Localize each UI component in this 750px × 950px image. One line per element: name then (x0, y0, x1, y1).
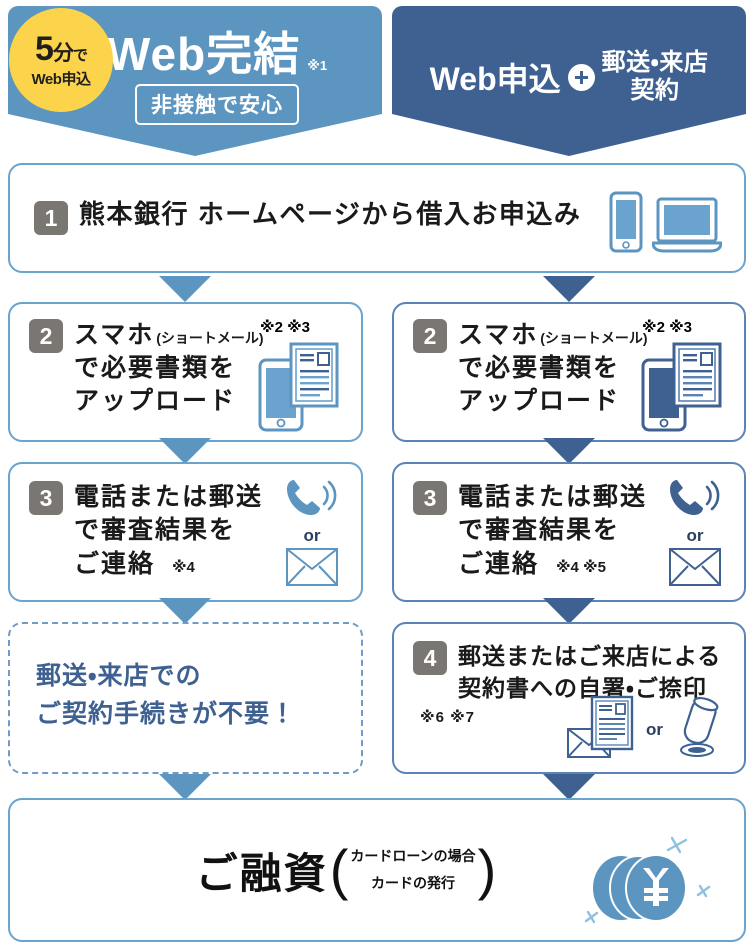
banner-right-line1: 郵送・来店 (602, 49, 709, 77)
smartphone-icon (609, 191, 643, 258)
badge-particle: で (73, 48, 87, 63)
step-2-right-line1-main: スマホ (458, 319, 538, 352)
laptop-icon (652, 197, 722, 258)
step-3-right-contact-icons: or (666, 476, 724, 592)
arrow-step1-to-step2-right (543, 276, 595, 302)
step-2-left-box: ※2 ※3 2 スマホ (ショートメール) で必要書類を アップロード (8, 302, 363, 442)
step-1-device-icons (609, 191, 722, 258)
yen-coins-icon (576, 826, 716, 943)
arrow-step1-to-step2-left (159, 276, 211, 302)
step-4-sign-icons: or (566, 695, 728, 764)
arrow-step3-to-note-left (159, 598, 211, 624)
step-2-left-line2: で必要書類を (74, 352, 264, 385)
arrow-step2-to-step3-left (159, 438, 211, 464)
step-3-left-line2: で審査結果を (74, 514, 263, 547)
no-contract-line1: 郵送・来店での (36, 658, 361, 696)
step-1-box: 1 熊本銀行 ホームページから借入お申込み (8, 163, 746, 273)
envelope-icon (668, 547, 722, 592)
step-3-left-box: 3 電話または郵送 で審査結果を ご連絡 ※4 or (8, 462, 363, 602)
final-loan-box: ご融資 ( カードローンの場合 カードの発行 ) (8, 798, 746, 942)
step-1-text: 熊本銀行 ホームページから借入お申込み (79, 201, 581, 227)
banner-left-footnote-mark: ※1 (307, 58, 327, 74)
step-3-right-line3: ご連絡 (458, 550, 539, 578)
step-3-right-footnote-marks: ※4 ※5 (556, 559, 606, 576)
banner-right-title: Web申込 (430, 54, 561, 100)
five-minute-badge: 5 分 で Web申込 (9, 8, 113, 112)
step-2-left-line3: アップロード (74, 385, 264, 418)
step-2-right-number: 2 (413, 319, 447, 353)
no-contract-line2: ご契約手続きが不要！ (36, 696, 361, 734)
banner-right-line2: 契約 (630, 77, 679, 105)
envelope-icon (285, 547, 339, 592)
flowchart-root: Web完結 ※1 非接触で安心 5 分 で Web申込 Web申込 (0, 0, 750, 950)
step-3-right-or-label: or (687, 526, 704, 546)
badge-unit: 分 (53, 43, 73, 64)
step-1-number: 1 (34, 201, 68, 235)
final-sub-line1: カードローンの場合 (350, 843, 475, 870)
arrow-step2-to-step3-right (543, 438, 595, 464)
step-4-or-label: or (646, 720, 663, 740)
final-sub-line2: カードの発行 (371, 870, 455, 897)
step-4-line1: 郵送またはご来店による (458, 641, 721, 673)
step-3-left-or-label: or (304, 526, 321, 546)
seal-stamp-icon (670, 695, 728, 764)
arrow-step4-to-final-right (543, 774, 595, 800)
final-paren-close: ) (478, 842, 497, 898)
step-3-left-contact-icons: or (283, 476, 341, 592)
step-4-right-box: 4 郵送またはご来店による 契約書への自署・ご捺印 ※6 ※7 (392, 622, 746, 774)
step-3-left-line3: ご連絡 (74, 550, 155, 578)
step-2-left-line1-main: スマホ (74, 319, 154, 352)
step-3-right-box: 3 電話または郵送 で審査結果を ご連絡 ※4 ※5 or (392, 462, 746, 602)
arrow-note-to-final-left (159, 774, 211, 800)
step-2-right-line3: アップロード (458, 385, 648, 418)
banner-left-pill-label: 非接触で安心 (135, 84, 299, 125)
step-4-number: 4 (413, 641, 447, 675)
step-2-right-footnote-marks: ※2 ※3 (642, 318, 692, 336)
no-contract-needed-box: 郵送・来店での ご契約手続きが不要！ (8, 622, 363, 774)
step-3-left-number: 3 (29, 481, 63, 515)
badge-number: 5 (35, 32, 53, 66)
step-3-right-number: 3 (413, 481, 447, 515)
step-2-left-number: 2 (29, 319, 63, 353)
phone-upload-document-icon (247, 338, 343, 439)
step-3-left-footnote-marks: ※4 (172, 559, 195, 576)
step-3-right-line2: で審査結果を (458, 514, 647, 547)
step-3-left-line1: 電話または郵送 (74, 481, 263, 514)
telephone-icon (666, 476, 724, 525)
final-title: ご融資 (196, 840, 328, 901)
banner-left-title: Web完結 (107, 31, 300, 77)
plus-icon (568, 64, 595, 91)
phone-upload-document-icon (630, 338, 726, 439)
envelope-document-icon (566, 695, 642, 764)
telephone-icon (283, 476, 341, 525)
step-2-right-line2: で必要書類を (458, 352, 648, 385)
final-paren-open: ( (330, 842, 349, 898)
step-2-left-footnote-marks: ※2 ※3 (260, 318, 310, 336)
header-banner-web-plus-mail: Web申込 郵送・来店 契約 (392, 6, 746, 156)
step-2-right-box: ※2 ※3 2 スマホ (ショートメール) で必要書類を アップロード (392, 302, 746, 442)
badge-subtitle: Web申込 (32, 68, 91, 89)
step-3-right-line1: 電話または郵送 (458, 481, 647, 514)
arrow-step3-to-step4-right (543, 598, 595, 624)
